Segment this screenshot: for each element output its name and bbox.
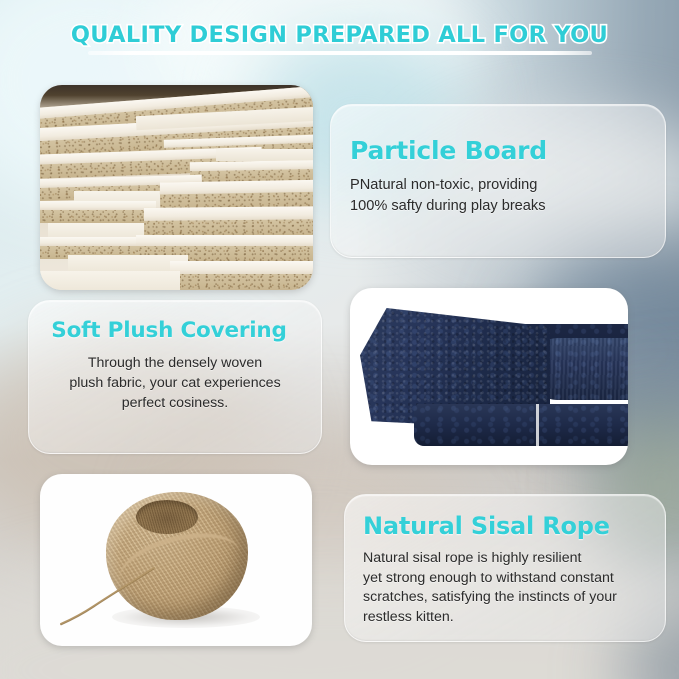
board-plank — [216, 149, 313, 161]
board-plank — [170, 261, 313, 290]
feature-card-natural-sisal-rope: Natural Sisal Rope Natural sisal rope is… — [344, 494, 666, 642]
particle-board-scene — [40, 85, 313, 290]
feature-body-natural-sisal-rope: Natural sisal rope is highly resilient y… — [363, 549, 659, 628]
plush-base-panel — [414, 404, 628, 446]
board-plank — [144, 206, 313, 238]
photo-plush-fabric — [350, 288, 628, 465]
board-plank — [40, 271, 180, 290]
plush-seam-highlight — [536, 404, 539, 448]
photo-sisal-rope-ball — [40, 474, 312, 646]
feature-card-soft-plush-covering: Soft Plush Covering Through the densely … — [28, 300, 322, 454]
feature-heading-particle-board: Particle Board — [350, 138, 547, 164]
page-title: QUALITY DESIGN PREPARED ALL FOR YOU — [71, 22, 608, 48]
photo-particle-board — [40, 85, 313, 290]
plush-fabric-scene — [358, 304, 628, 452]
board-plank — [40, 201, 156, 223]
feature-heading-soft-plush-covering: Soft Plush Covering — [29, 320, 309, 343]
sisal-ball-center-hole — [136, 500, 198, 534]
feature-heading-natural-sisal-rope: Natural Sisal Rope — [363, 514, 610, 539]
sisal-loose-strand — [60, 566, 156, 628]
feature-body-particle-board: PNatural non-toxic, providing 100% safty… — [350, 175, 650, 216]
feature-body-soft-plush-covering: Through the densely woven plush fabric, … — [39, 353, 311, 413]
feature-card-particle-board: Particle Board PNatural non-toxic, provi… — [330, 104, 666, 258]
headline-banner: QUALITY DESIGN PREPARED ALL FOR YOU — [0, 22, 679, 48]
title-underline-rule — [88, 51, 592, 55]
infographic-canvas: QUALITY DESIGN PREPARED ALL FOR YOU Part — [0, 0, 679, 679]
